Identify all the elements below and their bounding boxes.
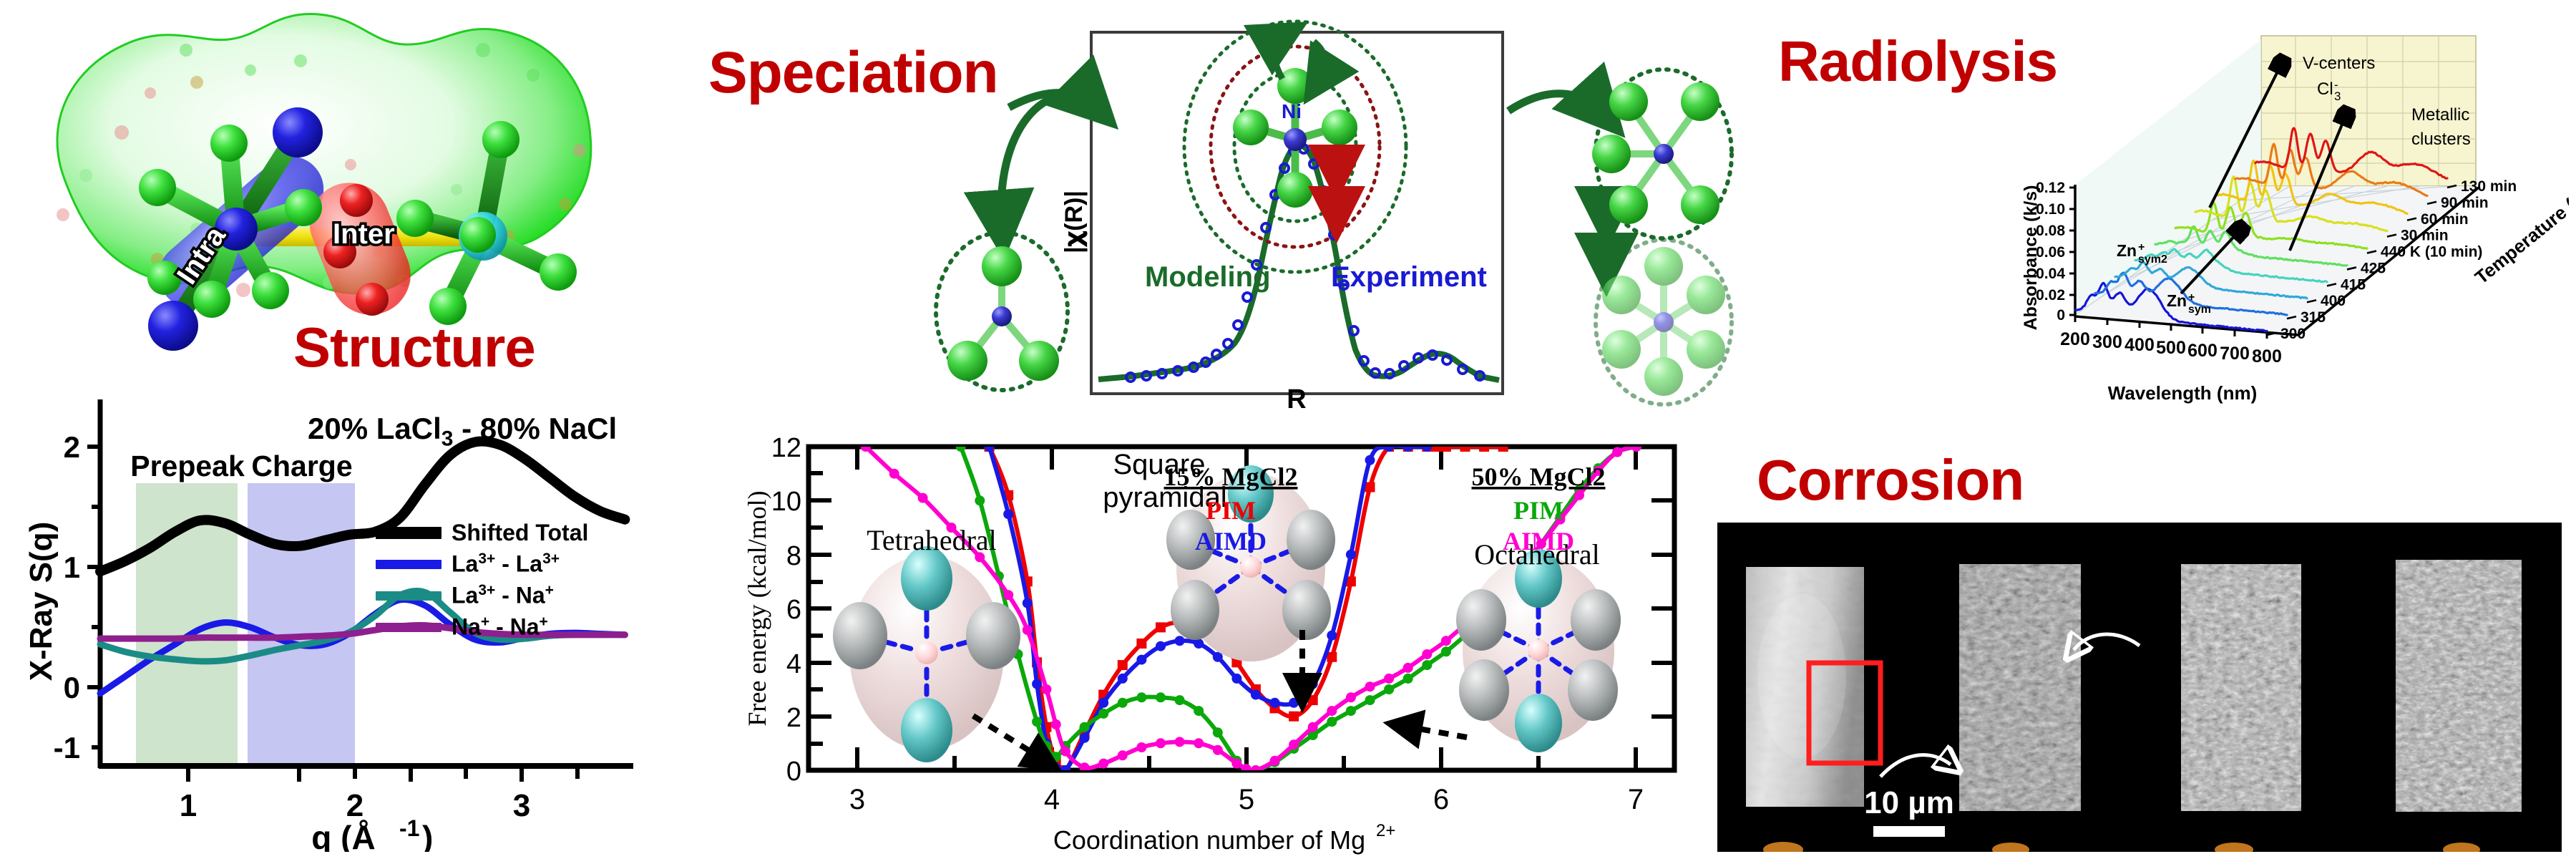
svg-text:V-centers: V-centers — [2303, 54, 2375, 73]
fe-y-tick-labels: 12 10 8 6 4 2 0 — [771, 433, 801, 787]
legend-label-la-na: La3+ - Na+ — [452, 582, 554, 609]
svg-text:7: 7 — [1628, 784, 1644, 815]
legend-label-na-na: Na+ - Na+ — [452, 613, 548, 641]
legend-item-la-la: La3+ - La3+ — [376, 548, 588, 580]
svg-text:Cl: Cl — [2317, 79, 2333, 99]
svg-text:PIM: PIM — [1513, 496, 1563, 525]
radio-z-label-6: 30 min — [2401, 228, 2449, 244]
svg-text:AIMD: AIMD — [1195, 527, 1267, 555]
octahedral-cartoon — [1456, 549, 1621, 752]
svg-text:sym2: sym2 — [2138, 253, 2167, 266]
svg-text:PIM: PIM — [1206, 496, 1256, 525]
svg-text:800: 800 — [2252, 346, 2282, 367]
svg-text:0: 0 — [64, 671, 80, 704]
charge-label: Charge — [251, 450, 352, 482]
scalebar-label: 10 µm — [1864, 785, 1954, 820]
svg-text:+: + — [2188, 291, 2195, 304]
free-energy-chart: 12 10 8 6 4 2 0 — [737, 422, 1710, 859]
radio-xlabel: Wavelength (nm) — [2108, 382, 2257, 404]
svg-text:500: 500 — [2156, 338, 2186, 358]
svg-text:5: 5 — [1239, 784, 1254, 815]
svg-text:clusters: clusters — [2411, 130, 2471, 149]
legend-swatch-la-na — [376, 591, 441, 601]
trigonal-cluster — [936, 233, 1068, 390]
svg-text:): ) — [422, 819, 433, 852]
inter-label: Inter — [333, 218, 395, 250]
octahedral-cluster-bottom — [1596, 240, 1732, 404]
radio-z-label-8: 90 min — [2441, 195, 2489, 211]
svg-text:2: 2 — [64, 430, 80, 464]
svg-text:700: 700 — [2220, 344, 2250, 364]
corrosion-sample-3 — [2181, 564, 2301, 811]
radio-z-label-1: 315 — [2301, 309, 2326, 326]
fe-x-tick-labels: 3 4 5 6 7 — [849, 784, 1644, 815]
figure-root: Intra Inter Structure — [0, 0, 2576, 859]
legend-swatch-shifted-total — [376, 527, 441, 539]
section-title-structure: Structure — [293, 315, 535, 380]
svg-text:1: 1 — [180, 788, 197, 823]
svg-text:AIMD: AIMD — [1503, 527, 1574, 555]
tetrahedral-label: Tetrahedral — [867, 524, 997, 556]
modeling-label: Modeling — [1145, 261, 1271, 293]
svg-text:q (Å: q (Å — [311, 819, 375, 852]
legend-item-la-na: La3+ - Na+ — [376, 580, 588, 611]
radio-z-label-0: 300 — [2280, 326, 2306, 342]
svg-text:15% MgCl2: 15% MgCl2 — [1164, 462, 1298, 491]
svg-text:Metallic: Metallic — [2411, 105, 2469, 125]
prepeak-label: Prepeak — [130, 450, 245, 482]
svg-text:6: 6 — [1433, 784, 1449, 815]
sq-legend: Shifted Total La3+ - La3+ La3+ - Na+ Na+… — [376, 517, 588, 643]
radio-ylabel: Absorbance (k/s) — [2021, 185, 2041, 331]
sq-xlabel: q (Å -1 ) — [311, 815, 433, 852]
svg-text:-: - — [2334, 78, 2338, 92]
x-tick-labels: 1 2 3 — [180, 788, 530, 823]
svg-text:2+: 2+ — [1376, 821, 1395, 840]
svg-text:50% MgCl2: 50% MgCl2 — [1472, 462, 1606, 491]
svg-text:0: 0 — [786, 757, 801, 787]
legend-item-shifted-total: Shifted Total — [376, 517, 588, 548]
svg-text:3: 3 — [513, 788, 530, 823]
legend-label-la-la: La3+ - La3+ — [452, 550, 560, 578]
section-title-corrosion: Corrosion — [1757, 447, 2024, 513]
legend-swatch-la-la — [376, 560, 441, 569]
svg-text:12: 12 — [771, 433, 801, 463]
corrosion-tomography-images: 10 µm — [1717, 523, 2562, 852]
arrow-to-octahedral — [1508, 94, 1604, 115]
corrosion-sample-4 — [2396, 560, 2522, 812]
svg-text:Zn: Zn — [2117, 241, 2137, 260]
svg-text:8: 8 — [786, 541, 801, 571]
radio-z-label-7: 60 min — [2421, 211, 2469, 228]
scalebar-bar — [1873, 826, 1945, 837]
svg-text:2: 2 — [346, 788, 364, 823]
sq-chart-title-text: 20% LaCl3 - 80% NaCl — [308, 412, 617, 451]
svg-text:0: 0 — [2057, 307, 2065, 324]
radio-z-label-3: 415 — [2341, 276, 2366, 293]
svg-text:200: 200 — [2060, 329, 2090, 349]
svg-text:sym: sym — [2188, 304, 2211, 316]
legend-item-na-na: Na+ - Na+ — [376, 611, 588, 643]
octahedral-cluster-top — [1592, 69, 1732, 238]
legend-swatch-na-na — [376, 623, 441, 632]
svg-text:2: 2 — [786, 703, 801, 733]
svg-text:400: 400 — [2124, 335, 2155, 355]
corrosion-sample-2 — [1959, 564, 2081, 811]
svg-text:Inter: Inter — [333, 218, 395, 250]
radio-z-label-9: 130 min — [2461, 178, 2517, 195]
svg-text:Coordination number of Mg: Coordination number of Mg — [1053, 825, 1365, 855]
svg-text:6: 6 — [786, 595, 801, 625]
radio-z-label-5: 440 K (10 min) — [2381, 244, 2482, 261]
fe-ylabel: Free energy (kcal/mol) — [743, 490, 771, 726]
svg-text:Zn: Zn — [2167, 291, 2187, 310]
svg-text:-1: -1 — [399, 815, 419, 841]
svg-text:4: 4 — [1044, 784, 1060, 815]
ni-atom-label: Ni — [1282, 100, 1302, 122]
svg-text:4: 4 — [786, 649, 801, 679]
radio-z-label-4: 425 — [2361, 260, 2386, 276]
radiolysis-waterfall-plot: 0.12 0.10 0.08 0.06 0.04 0.02 0 200 3 — [2004, 7, 2569, 422]
svg-text:+: + — [2138, 241, 2145, 253]
speciation-diagram: |𝛘(R)| R Modeling Experiment Ni — [916, 7, 1760, 408]
svg-text:600: 600 — [2187, 341, 2218, 361]
radio-x-tick-labels: 200 300 400 500 600 700 800 — [2060, 329, 2282, 367]
corrosion-sample-1 — [1746, 567, 1880, 807]
chi-axis-xlabel: R — [1287, 384, 1306, 408]
legend-label-shifted-total: Shifted Total — [452, 520, 588, 546]
charge-band — [248, 483, 355, 766]
experiment-label: Experiment — [1331, 261, 1487, 293]
svg-text:10: 10 — [771, 487, 801, 517]
svg-text:300: 300 — [2092, 332, 2122, 352]
fe-xlabel: Coordination number of Mg 2+ — [1053, 821, 1396, 855]
sq-ylabel: X-Ray S(q) — [24, 522, 59, 681]
svg-text:1: 1 — [64, 550, 80, 584]
svg-text:-1: -1 — [54, 731, 80, 765]
radio-z-label-2: 400 — [2321, 293, 2346, 309]
chi-axis-ylabel: |𝛘(R)| — [1060, 190, 1088, 253]
svg-text:3: 3 — [849, 784, 865, 815]
